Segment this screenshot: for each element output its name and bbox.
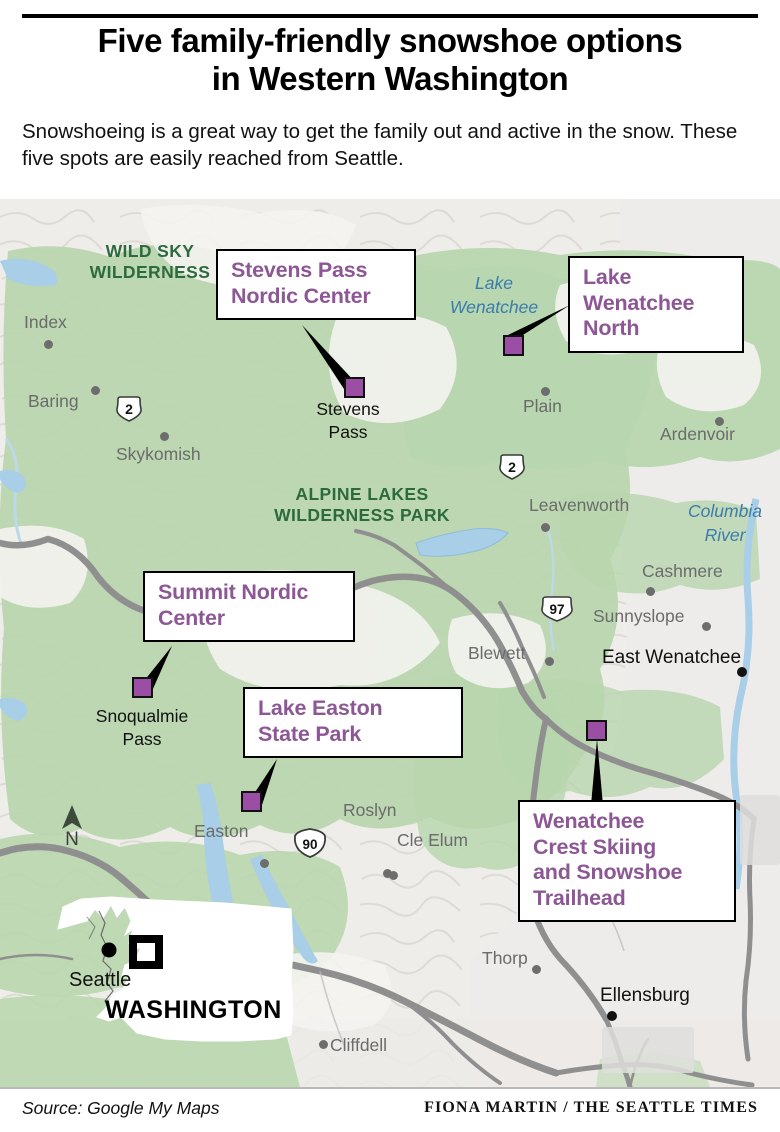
callout-line: Stevens Pass	[231, 258, 403, 284]
byline-credit: FIONA MARTIN / THE SEATTLE TIMES	[424, 1099, 758, 1117]
headline-line-1: Five family-friendly snowshoe options	[22, 22, 758, 60]
callout-line: Wenatchee	[533, 809, 723, 835]
marker-lake-wenatchee-north[interactable]	[503, 335, 524, 356]
header: Five family-friendly snowshoe options in…	[0, 0, 780, 199]
callout-line: Lake	[583, 265, 731, 291]
callout-wenatchee-crest[interactable]: Wenatchee Crest Skiing and Snowshoe Trai…	[518, 800, 736, 922]
marker-stevens-pass-nordic-center[interactable]	[344, 377, 365, 398]
footer-rule	[0, 1087, 780, 1089]
marker-lake-easton-state-park[interactable]	[241, 791, 262, 812]
callout-lake-easton-state-park[interactable]: Lake Easton State Park	[243, 687, 463, 758]
marker-wenatchee-crest[interactable]	[586, 720, 607, 741]
page-title: Five family-friendly snowshoe options in…	[22, 22, 758, 98]
callout-line: Center	[158, 606, 342, 632]
callout-line: Summit Nordic	[158, 580, 342, 606]
map-canvas[interactable]: WILD SKY WILDERNESS ALPINE LAKES WILDERN…	[0, 199, 780, 1087]
headline-line-2: in Western Washington	[22, 60, 758, 98]
callout-line: Crest Skiing	[533, 835, 723, 861]
inset-label-seattle: Seattle	[69, 969, 131, 992]
callout-line: State Park	[258, 722, 450, 748]
callout-line: Trailhead	[533, 886, 723, 912]
source-credit: Source: Google My Maps	[22, 1098, 219, 1119]
footer: Source: Google My Maps FIONA MARTIN / TH…	[0, 1087, 780, 1132]
callout-line: Nordic Center	[231, 284, 403, 310]
top-rule	[22, 14, 758, 18]
callout-line: North	[583, 316, 731, 342]
callout-summit-nordic-center[interactable]: Summit Nordic Center	[143, 571, 355, 642]
deck-text: Snowshoeing is a great way to get the fa…	[22, 118, 742, 172]
callout-lake-wenatchee-north[interactable]: Lake Wenatchee North	[568, 256, 744, 353]
callout-stevens-pass-nordic-center[interactable]: Stevens Pass Nordic Center	[216, 249, 416, 320]
state-inset-map: Seattle WASHINGTON	[25, 891, 315, 1061]
callout-line: Lake Easton	[258, 696, 450, 722]
callout-line: and Snowshoe	[533, 860, 723, 886]
callout-line: Wenatchee	[583, 291, 731, 317]
inset-label-washington: WASHINGTON	[105, 996, 282, 1025]
marker-summit-nordic-center[interactable]	[132, 677, 153, 698]
infographic-page: Five family-friendly snowshoe options in…	[0, 0, 780, 1132]
